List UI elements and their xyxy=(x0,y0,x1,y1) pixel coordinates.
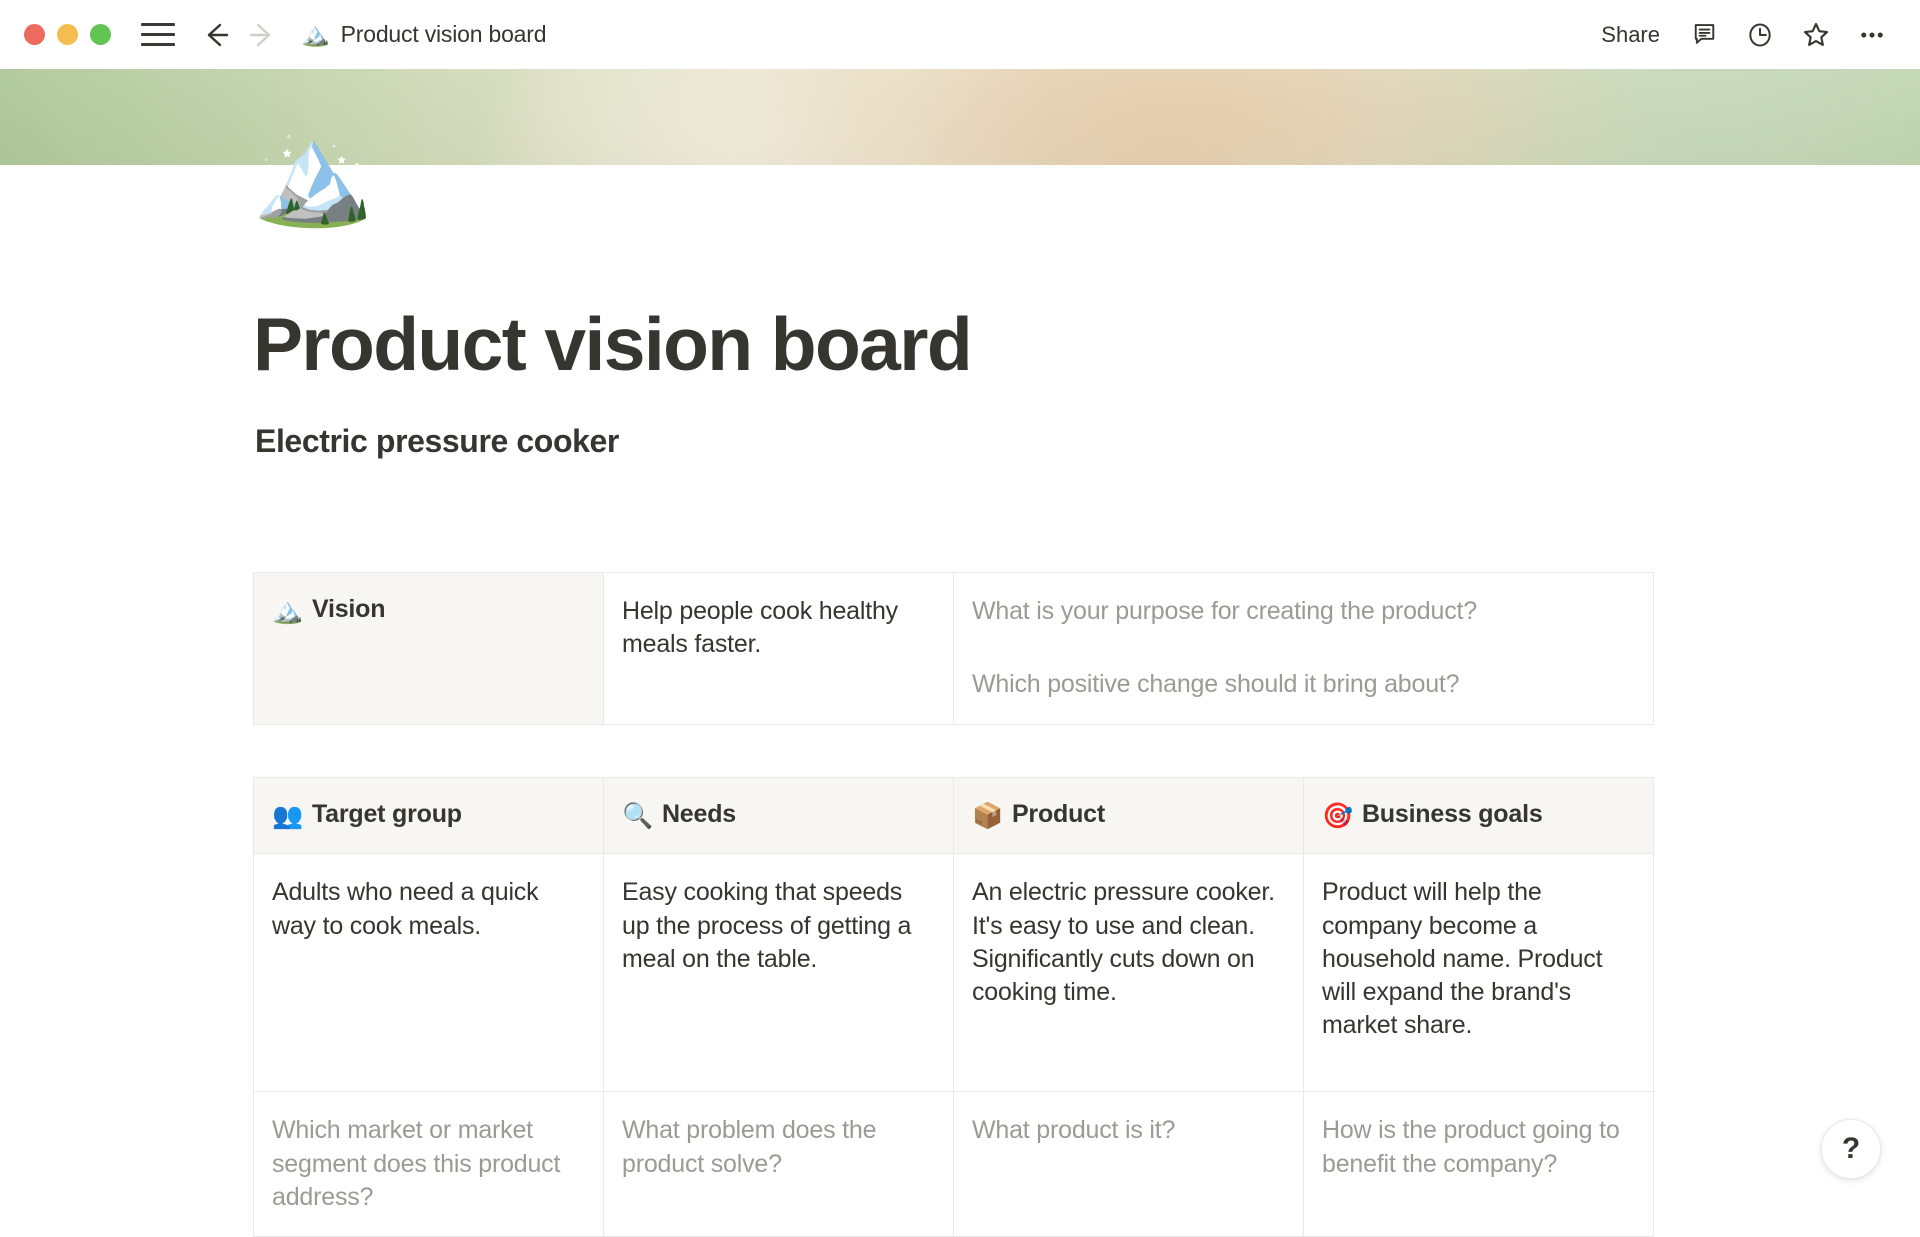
column-header-label: Needs xyxy=(662,800,736,828)
table-header-row: 👥Target group 🔍Needs 📦Product 🎯Business … xyxy=(254,778,1654,854)
vision-label: Vision xyxy=(312,595,385,623)
help-button[interactable]: ? xyxy=(1821,1119,1881,1179)
column-header-label: Target group xyxy=(312,800,462,828)
cell-needs-placeholder[interactable]: What problem does the product solve? xyxy=(604,1092,954,1237)
column-header-label: Product xyxy=(1012,800,1105,828)
magnifier-icon: 🔍 xyxy=(622,802,653,830)
cell-needs-value[interactable]: Easy cooking that speeds up the process … xyxy=(604,854,954,1092)
arrow-right-icon[interactable] xyxy=(239,13,283,57)
window-controls xyxy=(24,24,111,45)
table-row: 🏔️Vision Help people cook healthy meals … xyxy=(254,573,1654,725)
breadcrumb[interactable]: 🏔️ Product vision board xyxy=(301,21,546,48)
target-icon: 🎯 xyxy=(1322,802,1353,830)
product-vision-board-table: 👥Target group 🔍Needs 📦Product 🎯Business … xyxy=(253,777,1654,1237)
vision-placeholder-2: Which positive change should it bring ab… xyxy=(972,668,1629,701)
vision-table: 🏔️Vision Help people cook healthy meals … xyxy=(253,572,1654,725)
vision-label-cell[interactable]: 🏔️Vision xyxy=(254,573,604,725)
star-icon[interactable] xyxy=(1790,11,1842,59)
close-window-button[interactable] xyxy=(24,24,45,45)
vision-placeholder-1: What is your purpose for creating the pr… xyxy=(972,595,1629,628)
mountain-icon: 🏔️ xyxy=(301,23,330,46)
vision-value-cell[interactable]: Help people cook healthy meals faster. xyxy=(604,573,954,725)
page-subtitle[interactable]: Electric pressure cooker xyxy=(255,423,619,460)
column-header-business-goals[interactable]: 🎯Business goals xyxy=(1304,778,1654,854)
page-emoji-mountain-icon[interactable]: 🏔️ xyxy=(252,125,374,223)
package-icon: 📦 xyxy=(972,802,1003,830)
comment-icon[interactable] xyxy=(1678,11,1730,59)
hamburger-icon[interactable] xyxy=(141,22,175,48)
breadcrumb-title: Product vision board xyxy=(341,21,547,48)
column-header-target-group[interactable]: 👥Target group xyxy=(254,778,604,854)
table-row: Adults who need a quick way to cook meal… xyxy=(254,854,1654,1092)
cell-target-group-placeholder[interactable]: Which market or market segment does this… xyxy=(254,1092,604,1237)
maximize-window-button[interactable] xyxy=(90,24,111,45)
page-title[interactable]: Product vision board xyxy=(253,305,971,384)
cell-product-value[interactable]: An electric pressure cooker. It's easy t… xyxy=(954,854,1304,1092)
people-icon: 👥 xyxy=(272,802,303,830)
cell-business-goals-value[interactable]: Product will help the company become a h… xyxy=(1304,854,1654,1092)
arrow-left-icon[interactable] xyxy=(195,13,239,57)
cell-target-group-value[interactable]: Adults who need a quick way to cook meal… xyxy=(254,854,604,1092)
cell-product-placeholder[interactable]: What product is it? xyxy=(954,1092,1304,1237)
page-body: 🏔️ Product vision board Electric pressur… xyxy=(0,165,1920,1200)
clock-icon[interactable] xyxy=(1734,11,1786,59)
column-header-label: Business goals xyxy=(1362,800,1543,828)
window-titlebar: 🏔️ Product vision board Share xyxy=(0,0,1920,69)
share-button[interactable]: Share xyxy=(1587,14,1674,56)
column-header-needs[interactable]: 🔍Needs xyxy=(604,778,954,854)
titlebar-actions: Share xyxy=(1587,11,1898,59)
mountain-icon: 🏔️ xyxy=(272,597,303,625)
cell-business-goals-placeholder[interactable]: How is the product going to benefit the … xyxy=(1304,1092,1654,1237)
ellipsis-icon[interactable] xyxy=(1846,11,1898,59)
minimize-window-button[interactable] xyxy=(57,24,78,45)
column-header-product[interactable]: 📦Product xyxy=(954,778,1304,854)
vision-placeholder-cell[interactable]: What is your purpose for creating the pr… xyxy=(954,573,1654,725)
table-row: Which market or market segment does this… xyxy=(254,1092,1654,1237)
